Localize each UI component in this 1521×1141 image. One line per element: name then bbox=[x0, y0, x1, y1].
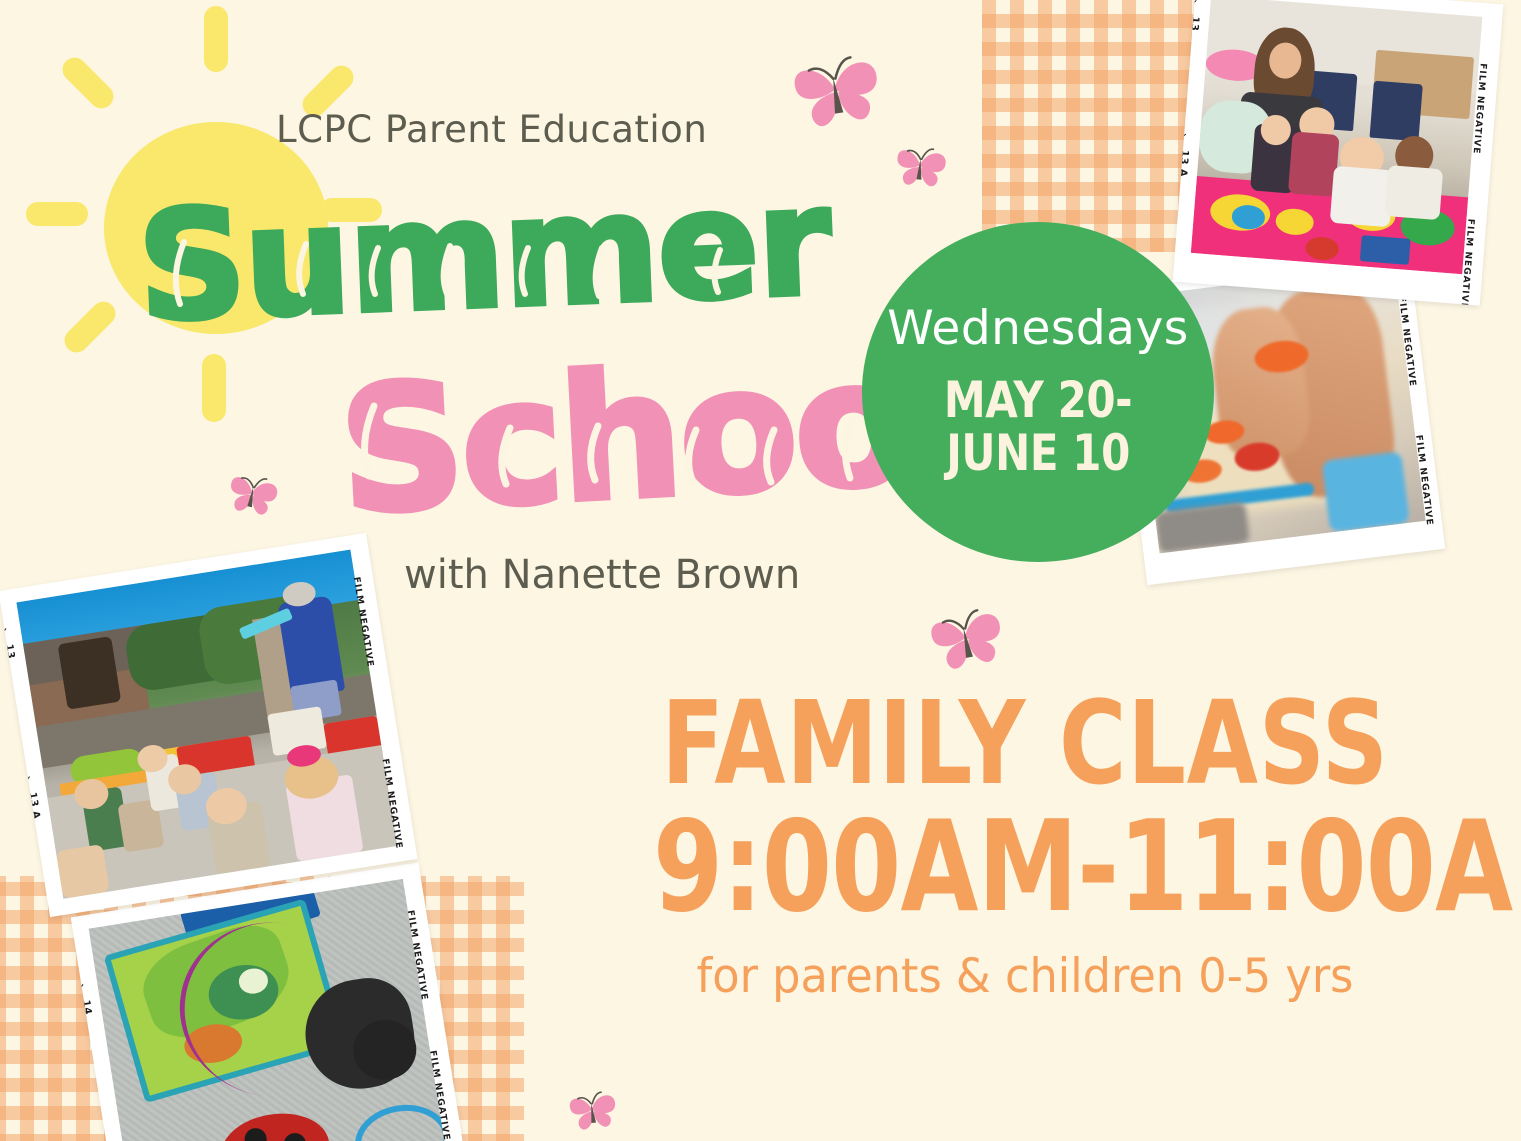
class-audience: for parents & children 0-5 yrs bbox=[583, 953, 1467, 1000]
class-info-block: FAMILY CLASS 9:00AM-11:00AM for parents … bbox=[560, 690, 1490, 1000]
frame-number: 13 bbox=[3, 643, 16, 659]
class-time: 9:00AM-11:00AM bbox=[653, 807, 1397, 927]
butterfly-icon bbox=[922, 598, 1012, 678]
class-title: FAMILY CLASS bbox=[653, 690, 1397, 799]
sun-ray bbox=[204, 6, 228, 72]
butterfly-icon bbox=[891, 140, 951, 193]
photo-bubbles-outdoors: ↘ 13 ↘ 13 A FILM NEGATIVE FILM NEGATIVE bbox=[0, 533, 418, 917]
badge-date-line2: JUNE 10 bbox=[944, 427, 1132, 480]
frame-arrow-icon: ↘ bbox=[0, 626, 11, 638]
photo-content bbox=[16, 550, 397, 899]
badge-day-label: Wednesdays bbox=[887, 305, 1189, 352]
page-kicker: LCPC Parent Education bbox=[276, 108, 796, 151]
photo-image bbox=[1191, 0, 1482, 274]
photo-image bbox=[89, 879, 446, 1141]
flyer-canvas: LCPC Parent Education Summer School bbox=[0, 0, 1521, 1141]
frame-arrow-icon: ↘ bbox=[21, 774, 34, 786]
butterfly-icon bbox=[785, 44, 890, 136]
photo-content bbox=[89, 879, 446, 1141]
title-summer: Summer bbox=[135, 167, 831, 343]
badge-date-range: MAY 20- JUNE 10 bbox=[944, 374, 1132, 479]
photo-content bbox=[1191, 0, 1482, 274]
photo-image bbox=[16, 550, 397, 899]
photo-teacher-babies: ↘ 13 ↘ 13 A FILM NEGATIVE FILM NEGATIVE bbox=[1173, 0, 1504, 306]
byline: with Nanette Brown bbox=[404, 552, 800, 598]
badge-date-line1: MAY 20- bbox=[944, 374, 1132, 427]
sun-ray bbox=[26, 202, 88, 226]
butterfly-icon bbox=[565, 1085, 622, 1134]
frame-number: 13 A bbox=[26, 792, 41, 821]
date-badge: Wednesdays MAY 20- JUNE 10 bbox=[862, 222, 1214, 562]
sun-ray bbox=[58, 53, 119, 114]
